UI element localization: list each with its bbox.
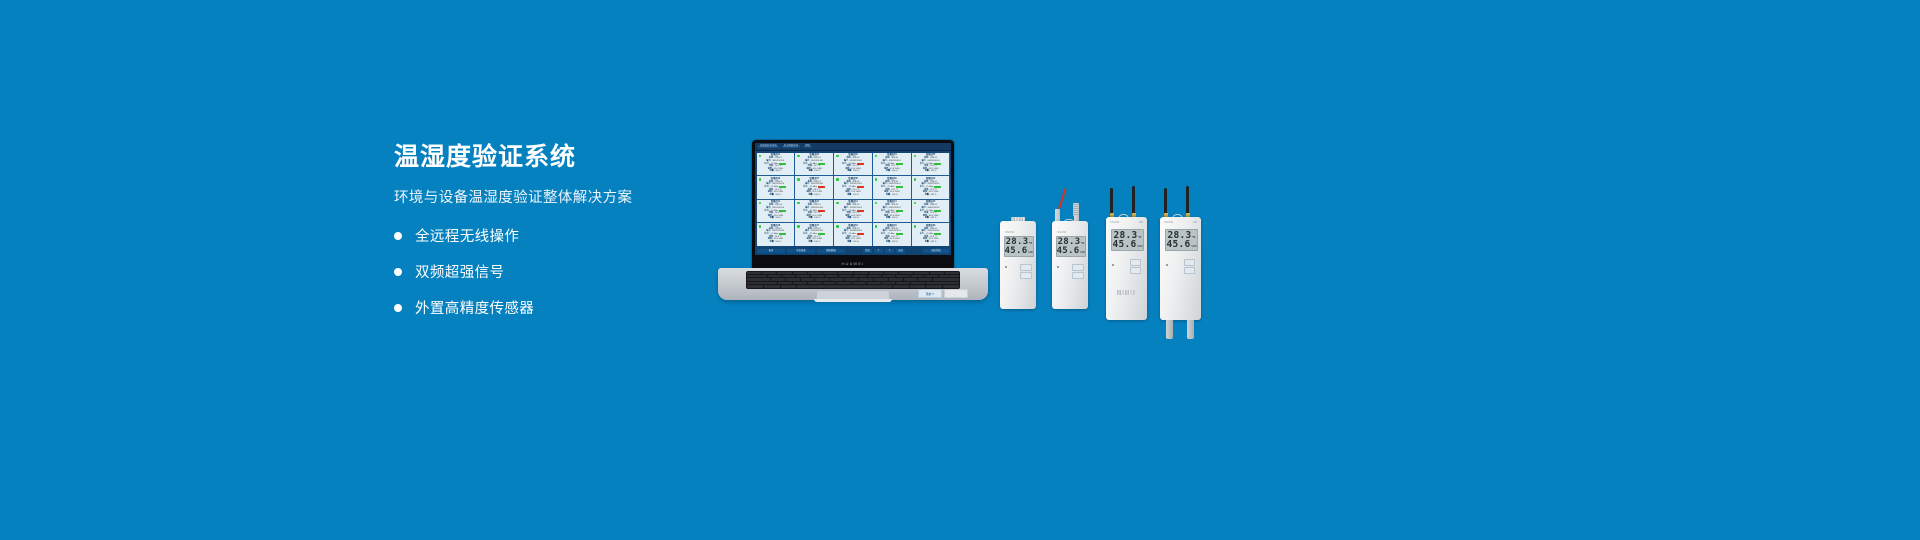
sensor-card[interactable]: 监测点06名称:冷库-01编号:SN20250101信号:-72 dBm温度:2… [757, 176, 795, 199]
sensor-card-row: 电量:100 % [759, 241, 793, 244]
keyboard-key[interactable] [926, 285, 942, 287]
keyboard-key[interactable] [764, 285, 780, 287]
sensor-status-led-icon [759, 178, 762, 181]
sensor-card-row: 电量:100 % [875, 170, 909, 173]
keyboard-key[interactable] [797, 285, 892, 287]
device-2-lcd-display: 28.3℃ 45.6%RH [1056, 236, 1086, 257]
keyboard-key[interactable] [815, 278, 829, 280]
sensor-status-led-icon [836, 178, 839, 181]
device-1-hum-unit: %RH [1028, 251, 1033, 254]
app-menu-item-main[interactable]: 温湿度验证系统 [758, 145, 779, 148]
sensor-status-led-icon [797, 225, 800, 228]
sensor-card-value: 100 % [814, 170, 820, 173]
keyboard-key[interactable] [899, 272, 913, 274]
keyboard-key[interactable] [801, 278, 815, 280]
feature-label: 外置高精度传感器 [415, 297, 534, 318]
sensor-card-row: 电量:100 % [797, 241, 831, 244]
sensor-card-key: 电量: [886, 194, 891, 197]
device-4-humidity: 45.6 [1166, 240, 1190, 250]
toolbar-spacer [907, 250, 921, 252]
sensor-card-title: 监测点04 [875, 154, 909, 156]
toolbar-button-more[interactable]: 更多 [757, 249, 785, 254]
sensor-card-row: 电量:100 % [759, 170, 793, 173]
sensor-card-title: 监测点05 [914, 154, 948, 156]
page-subtitle: 环境与设备温湿度验证整体解决方案 [394, 186, 724, 207]
feature-label: 双频超强信号 [415, 261, 504, 282]
device-2-humidity: 45.6 [1057, 247, 1080, 256]
keyboard-key[interactable] [896, 282, 910, 284]
sensor-card[interactable]: 监测点03名称:冷库-01编号:SN20250101信号:-72 dBm温度:2… [834, 153, 872, 176]
sensor-card-key: 电量: [886, 170, 891, 173]
toolbar-button-export[interactable]: 导出报表 [787, 249, 815, 254]
pagination-last[interactable]: 末页 [896, 249, 905, 254]
sensor-card-row: 电量:100 % [836, 217, 870, 220]
sensor-card-row: 电量:100 % [875, 217, 909, 220]
app-menu-item-help[interactable]: 帮助 [803, 145, 812, 148]
hero-banner: 温湿度验证系统 环境与设备温湿度验证整体解决方案 全远程无线操作 双频超强信号 … [0, 0, 1920, 540]
device-4-antenna-left [1164, 188, 1167, 215]
sensor-card[interactable]: 监测点11名称:冷库-01编号:SN20250101信号:-72 dBm温度:2… [757, 200, 795, 223]
sensor-card[interactable]: 监测点12名称:冷库-01编号:SN20250101信号:-72 dBm温度:2… [795, 200, 833, 223]
device-1-humidity: 45.6 [1005, 247, 1028, 256]
device-4-button-down[interactable] [1184, 267, 1195, 274]
device-4-antenna-right [1186, 186, 1189, 215]
sensor-card-value: 100 % [775, 217, 781, 220]
sensor-card-title: 监测点18 [836, 225, 870, 227]
sensor-card-title: 监测点06 [759, 178, 793, 180]
app-toolbar: 更多 导出报表 刷新数据 首页 1 2 末页 退出系统 [755, 247, 951, 255]
device-4-probe-left [1166, 320, 1173, 339]
keyboard-key[interactable] [825, 275, 838, 277]
bullet-dot-icon [394, 232, 402, 240]
keyboard-key[interactable] [882, 282, 896, 284]
keyboard-key[interactable] [945, 272, 959, 274]
keyboard-key[interactable] [786, 278, 800, 280]
device-3-temp-unit: ℃ [1138, 236, 1141, 239]
keyboard-key[interactable] [781, 285, 797, 287]
keyboard-key[interactable] [747, 285, 763, 287]
keyboard-key[interactable] [884, 272, 898, 274]
sensor-card-row: 电量:100 % [914, 241, 948, 244]
laptop-front-lip [814, 299, 892, 302]
list-item: 外置高精度传感器 [394, 297, 724, 318]
sensor-card-row: 电量:100 % [759, 194, 793, 197]
list-item: 全远程无线操作 [394, 225, 724, 246]
keyboard-key[interactable] [808, 282, 822, 284]
sensor-card-value: 100 % [775, 194, 781, 197]
sensor-card-title: 监测点20 [914, 225, 948, 227]
sensor-card[interactable]: 监测点18名称:冷库-01编号:SN20250101信号:-72 dBm温度:2… [834, 223, 872, 246]
sensor-card[interactable]: 监测点02名称:冷库-01编号:SN20250101信号:-72 dBm温度:2… [795, 153, 833, 176]
keyboard-key[interactable] [867, 282, 881, 284]
sensor-card-value: 100 % [892, 217, 898, 220]
laptop-illustration: 温湿度验证系统 历史数据查询 帮助 监测点01名称:冷库-01编号:SN2025… [718, 140, 988, 300]
sensor-card-key: 电量: [847, 170, 852, 173]
device-3: SNOW HB 28.3℃ 45.6%RH [1106, 186, 1147, 320]
sensor-status-led-icon [836, 225, 839, 228]
sensor-card[interactable]: 监测点04名称:冷库-01编号:SN20250101信号:-72 dBm温度:2… [873, 153, 911, 176]
device-2-button-up[interactable] [1072, 264, 1084, 271]
keyboard-key[interactable] [838, 272, 852, 274]
sensor-card-key: 电量: [770, 241, 775, 244]
device-4: SNOW HB 28.3℃ 45.6%RH [1160, 186, 1201, 320]
app-titlebar: 温湿度验证系统 历史数据查询 帮助 [755, 143, 951, 151]
device-2-temp-unit: ℃ [1081, 242, 1084, 245]
sensor-card[interactable]: 监测点15名称:冷库-01编号:SN20250101信号:-72 dBm温度:2… [912, 200, 950, 223]
device-4-body: SNOW HB 28.3℃ 45.6%RH [1160, 217, 1201, 320]
sensor-card-row: 电量:100 % [836, 194, 870, 197]
keyboard-key[interactable] [793, 272, 807, 274]
device-4-hum-unit: %RH [1191, 245, 1196, 248]
keyboard-row [747, 278, 959, 280]
device-1-brand: SNOW [1005, 231, 1014, 234]
sensor-card-title: 监测点19 [875, 225, 909, 227]
sensor-card[interactable]: 监测点20名称:冷库-01编号:SN20250101信号:-72 dBm温度:2… [912, 223, 950, 246]
sensor-status-led-icon [759, 202, 762, 205]
pagination-page-1[interactable]: 1 [874, 249, 883, 254]
keyboard-key[interactable] [823, 282, 837, 284]
device-4-model: HB [1193, 221, 1197, 224]
sensor-status-led-icon [914, 225, 917, 228]
keyboard-key[interactable] [939, 275, 959, 277]
keyboard-key[interactable] [925, 275, 938, 277]
sensor-status-led-icon [836, 202, 839, 205]
toolbar-button-exit[interactable]: 退出系统 [923, 249, 949, 254]
keyboard-key[interactable] [911, 275, 924, 277]
device-1-button-up[interactable] [1020, 264, 1032, 271]
device-3-hum-unit: %RH [1137, 245, 1142, 248]
sensor-card[interactable]: 监测点05名称:冷库-01编号:SN20250101信号:-72 dBm温度:2… [912, 153, 950, 176]
sensor-card[interactable]: 监测点09名称:冷库-01编号:SN20250101信号:-72 dBm温度:2… [873, 176, 911, 199]
keyboard-key[interactable] [747, 278, 770, 280]
sensor-status-led-icon [836, 155, 839, 158]
keyboard-key[interactable] [830, 278, 844, 280]
keyboard-key[interactable] [747, 275, 767, 277]
sensor-card-row: 电量:100 % [914, 217, 948, 220]
sensor-card-value: 100 % [775, 170, 781, 173]
sensor-card-key: 电量: [847, 194, 852, 197]
device-2-button-down[interactable] [1072, 272, 1084, 279]
keyboard-key[interactable] [868, 275, 881, 277]
sensor-card-value: 100 % [931, 241, 937, 244]
sensor-card-value: 100 % [853, 217, 859, 220]
sensor-card-row: 电量:100 % [759, 217, 793, 220]
sensor-status-led-icon [797, 155, 800, 158]
sensor-card-key: 电量: [770, 217, 775, 220]
sensor-card-value: 100 % [853, 241, 859, 244]
keyboard-key[interactable] [845, 278, 859, 280]
sensor-card[interactable]: 监测点01名称:冷库-01编号:SN20250101信号:-72 dBm温度:2… [757, 153, 795, 176]
device-2-body: SNOW 28.3℃ 45.6%RH [1052, 221, 1088, 309]
laptop-sticker-energy [944, 289, 968, 298]
device-1-temp-unit: ℃ [1029, 242, 1032, 245]
sensor-device-group: SNOW 28.3℃ 45.6%RH SNOW 28.3℃ 45. [1000, 186, 1210, 321]
device-2-led-icon [1057, 266, 1059, 268]
sensor-card-value: 100 % [814, 194, 820, 197]
keyboard-key[interactable] [896, 275, 909, 277]
sensor-card-title: 监测点16 [759, 225, 793, 227]
sensor-card-row: 电量:100 % [797, 194, 831, 197]
sensor-card[interactable]: 监测点07名称:冷库-01编号:SN20250101信号:-72 dBm温度:2… [795, 176, 833, 199]
sensor-card-value: 100 % [931, 194, 937, 197]
keyboard-key[interactable] [768, 275, 781, 277]
sensor-card-title: 监测点09 [875, 178, 909, 180]
laptop-keyboard[interactable] [746, 271, 960, 289]
sensor-card-title: 监测点01 [759, 154, 793, 156]
sensor-card-title: 监测点13 [836, 201, 870, 203]
feature-list: 全远程无线操作 双频超强信号 外置高精度传感器 [394, 225, 724, 318]
keyboard-key[interactable] [914, 272, 928, 274]
device-4-temp-unit: ℃ [1192, 236, 1195, 239]
keyboard-row [747, 282, 959, 284]
sensor-card-key: 电量: [886, 217, 891, 220]
keyboard-key[interactable] [911, 282, 925, 284]
keyboard-key[interactable] [943, 285, 959, 287]
keyboard-key[interactable] [778, 282, 792, 284]
sensor-card-row: 电量:100 % [797, 217, 831, 220]
keyboard-key[interactable] [853, 275, 866, 277]
laptop-sticker-cpu: 酷睿 i7 [918, 289, 942, 298]
sensor-status-led-icon [797, 178, 800, 181]
sensor-card-value: 100 % [892, 194, 898, 197]
keyboard-key[interactable] [747, 282, 777, 284]
device-4-brand: SNOW [1164, 221, 1173, 224]
laptop-lid: 温湿度验证系统 历史数据查询 帮助 监测点01名称:冷库-01编号:SN2025… [752, 140, 954, 271]
sensor-card-value: 100 % [814, 241, 820, 244]
sensor-card-title: 监测点02 [797, 154, 831, 156]
keyboard-key[interactable] [882, 275, 895, 277]
device-4-led-icon [1166, 264, 1168, 266]
laptop-base: 酷睿 i7 [718, 268, 988, 300]
device-2-brand: SNOW [1057, 231, 1066, 234]
device-2: SNOW 28.3℃ 45.6%RH [1052, 206, 1088, 309]
keyboard-row [747, 285, 959, 287]
keyboard-key[interactable] [889, 278, 903, 280]
keyboard-key[interactable] [869, 272, 883, 274]
keyboard-key[interactable] [782, 275, 795, 277]
device-3-model: HB [1139, 221, 1143, 224]
app-menu-item-history[interactable]: 历史数据查询 [782, 145, 800, 148]
sensor-card[interactable]: 监测点08名称:冷库-01编号:SN20250101信号:-72 dBm温度:2… [834, 176, 872, 199]
keyboard-key[interactable] [839, 275, 852, 277]
keyboard-key[interactable] [811, 275, 824, 277]
hero-copy: 温湿度验证系统 环境与设备温湿度验证整体解决方案 全远程无线操作 双频超强信号 … [394, 142, 724, 333]
sensor-card-value: 100 % [931, 170, 937, 173]
device-3-antenna-right [1132, 186, 1135, 215]
sensor-status-led-icon [914, 178, 917, 181]
keyboard-key[interactable] [793, 282, 807, 284]
device-4-button-up[interactable] [1184, 259, 1195, 266]
sensor-card-key: 电量: [847, 241, 852, 244]
keyboard-key[interactable] [904, 278, 918, 280]
sensor-card-row: 电量:100 % [797, 170, 831, 173]
device-3-humidity: 45.6 [1112, 240, 1136, 250]
keyboard-key[interactable] [796, 275, 809, 277]
sensor-card-key: 电量: [808, 170, 813, 173]
keyboard-key[interactable] [771, 278, 785, 280]
device-3-lcd-display: 28.3℃ 45.6%RH [1111, 229, 1144, 251]
sensor-card-value: 100 % [853, 170, 859, 173]
sensor-card[interactable]: 监测点13名称:冷库-01编号:SN20250101信号:-72 dBm温度:2… [834, 200, 872, 223]
page-title: 温湿度验证系统 [394, 142, 724, 172]
device-3-led-icon [1112, 264, 1114, 266]
keyboard-key[interactable] [854, 272, 868, 274]
bullet-dot-icon [394, 304, 402, 312]
keyboard-key[interactable] [837, 282, 851, 284]
sensor-card-title: 监测点07 [797, 178, 831, 180]
sensor-card-key: 电量: [925, 170, 930, 173]
sensor-status-led-icon [759, 155, 762, 158]
device-4-lcd-display: 28.3℃ 45.6%RH [1165, 229, 1198, 251]
keyboard-key[interactable] [747, 272, 761, 274]
device-3-body: SNOW HB 28.3℃ 45.6%RH [1106, 217, 1147, 320]
device-1-body: SNOW 28.3℃ 45.6%RH [1000, 221, 1036, 309]
sensor-card-key: 电量: [808, 241, 813, 244]
sensor-card-row: 电量:100 % [914, 170, 948, 173]
sensor-card-title: 监测点17 [797, 225, 831, 227]
list-item: 双频超强信号 [394, 261, 724, 282]
device-3-antenna-left [1110, 188, 1113, 215]
sensor-card-key: 电量: [808, 217, 813, 220]
keyboard-key[interactable] [930, 272, 944, 274]
keyboard-key[interactable] [808, 272, 822, 274]
sensor-status-led-icon [759, 225, 762, 228]
sensor-card-row: 电量:100 % [836, 170, 870, 173]
keyboard-key[interactable] [823, 272, 837, 274]
sensor-card-key: 电量: [770, 194, 775, 197]
sensor-card-value: 100 % [853, 194, 859, 197]
sensor-card-row: 电量:100 % [875, 194, 909, 197]
sensor-card-row: 电量:100 % [914, 194, 948, 197]
sensor-card-key: 电量: [886, 241, 891, 244]
feature-label: 全远程无线操作 [415, 225, 519, 246]
sensor-card-key: 电量: [925, 194, 930, 197]
keyboard-key[interactable] [926, 282, 959, 284]
sensor-card-title: 监测点03 [836, 154, 870, 156]
sensor-card-value: 100 % [892, 170, 898, 173]
sensor-status-led-icon [797, 202, 800, 205]
keyboard-key[interactable] [762, 272, 776, 274]
keyboard-key[interactable] [933, 278, 959, 280]
sensor-card-key: 电量: [847, 217, 852, 220]
device-1-lcd-display: 28.3℃ 45.6%RH [1004, 236, 1034, 257]
sensor-card[interactable]: 监测点10名称:冷库-01编号:SN20250101信号:-72 dBm温度:2… [912, 176, 950, 199]
sensor-card-value: 100 % [892, 241, 898, 244]
keyboard-key[interactable] [874, 278, 888, 280]
sensor-card-title: 监测点10 [914, 178, 948, 180]
device-1-button-down[interactable] [1020, 272, 1032, 279]
toolbar-spacer [847, 250, 861, 252]
sensor-card-key: 电量: [925, 241, 930, 244]
sensor-card-title: 监测点15 [914, 201, 948, 203]
sensor-card[interactable]: 监测点17名称:冷库-01编号:SN20250101信号:-72 dBm温度:2… [795, 223, 833, 246]
keyboard-row [747, 272, 959, 274]
sensor-grid: 监测点01名称:冷库-01编号:SN20250101信号:-72 dBm温度:2… [757, 153, 950, 246]
device-3-button-up[interactable] [1130, 259, 1141, 266]
sensor-card-key: 电量: [770, 170, 775, 173]
sensor-card-value: 100 % [931, 217, 937, 220]
keyboard-key[interactable] [918, 278, 932, 280]
sensor-card-value: 100 % [775, 241, 781, 244]
sensor-card-title: 监测点11 [759, 201, 793, 203]
device-2-hum-unit: %RH [1080, 251, 1085, 254]
pagination-first[interactable]: 首页 [863, 249, 872, 254]
keyboard-key[interactable] [893, 285, 909, 287]
sensor-card-value: 100 % [814, 217, 820, 220]
bullet-dot-icon [394, 268, 402, 276]
sensor-grid-wrapper: 监测点01名称:冷库-01编号:SN20250101信号:-72 dBm温度:2… [755, 151, 951, 247]
device-1-led-icon [1005, 266, 1007, 268]
device-3-brand: SNOW [1110, 221, 1119, 224]
sensor-card-title: 监测点08 [836, 178, 870, 180]
sensor-card[interactable]: 监测点14名称:冷库-01编号:SN20250101信号:-72 dBm温度:2… [873, 200, 911, 223]
sensor-card[interactable]: 监测点19名称:冷库-01编号:SN20250101信号:-72 dBm温度:2… [873, 223, 911, 246]
sensor-card-title: 监测点14 [875, 201, 909, 203]
sensor-card[interactable]: 监测点16名称:冷库-01编号:SN20250101信号:-72 dBm温度:2… [757, 223, 795, 246]
sensor-card-title: 监测点12 [797, 201, 831, 203]
sensor-card-key: 电量: [925, 217, 930, 220]
toolbar-button-refresh[interactable]: 刷新数据 [817, 249, 845, 254]
keyboard-row [747, 275, 959, 277]
pagination-page-2[interactable]: 2 [885, 249, 894, 254]
device-3-vent-icon [1117, 290, 1135, 295]
keyboard-key[interactable] [777, 272, 791, 274]
keyboard-key[interactable] [859, 278, 873, 280]
keyboard-key[interactable] [910, 285, 926, 287]
keyboard-key[interactable] [852, 282, 866, 284]
sensor-card-row: 电量:100 % [875, 241, 909, 244]
device-3-button-down[interactable] [1130, 267, 1141, 274]
device-1: SNOW 28.3℃ 45.6%RH [1000, 221, 1036, 309]
device-2-probe-wire [1058, 188, 1066, 209]
sensor-card-key: 电量: [808, 194, 813, 197]
sensor-card-row: 电量:100 % [836, 241, 870, 244]
laptop-screen: 温湿度验证系统 历史数据查询 帮助 监测点01名称:冷库-01编号:SN2025… [755, 143, 951, 255]
device-4-probe-right [1187, 320, 1194, 339]
